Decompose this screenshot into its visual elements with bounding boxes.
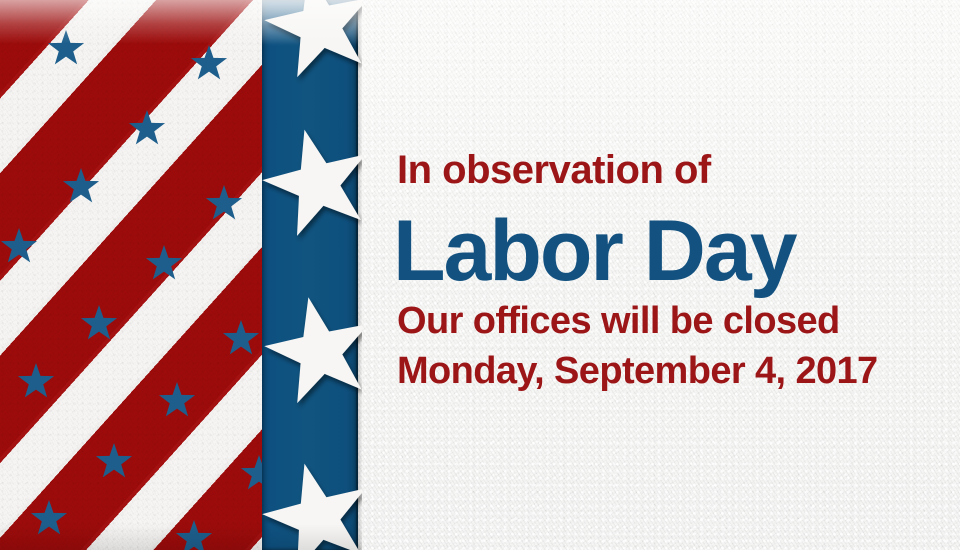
message-block: In observation of Labor Day Our offices … xyxy=(397,0,937,550)
white-star-icon xyxy=(252,118,362,250)
blue-star-icon xyxy=(60,166,102,208)
white-star-icon xyxy=(252,452,362,550)
blue-star-icon xyxy=(78,303,120,345)
white-star-icon xyxy=(254,0,362,92)
blue-star-icon xyxy=(188,43,230,85)
labor-day-announcement-poster: In observation of Labor Day Our offices … xyxy=(0,0,960,550)
blue-star-icon xyxy=(45,28,87,70)
blue-star-icon xyxy=(93,441,135,483)
observation-line: In observation of xyxy=(397,150,711,190)
blue-star-icon xyxy=(126,108,168,150)
blue-star-icon xyxy=(15,361,57,403)
blue-star-icon xyxy=(0,226,40,268)
blue-star-icon xyxy=(173,518,215,550)
blue-star-icon xyxy=(28,498,70,540)
white-star-icon xyxy=(254,286,362,418)
closure-line-1: Our offices will be closed xyxy=(397,302,840,340)
american-flag-graphic xyxy=(0,0,362,550)
blue-star-icon xyxy=(156,380,198,422)
holiday-title: Labor Day xyxy=(393,208,796,294)
closure-date-line: Monday, September 4, 2017 xyxy=(397,352,878,390)
blue-star-icon xyxy=(203,183,245,225)
blue-star-icon xyxy=(143,243,185,285)
